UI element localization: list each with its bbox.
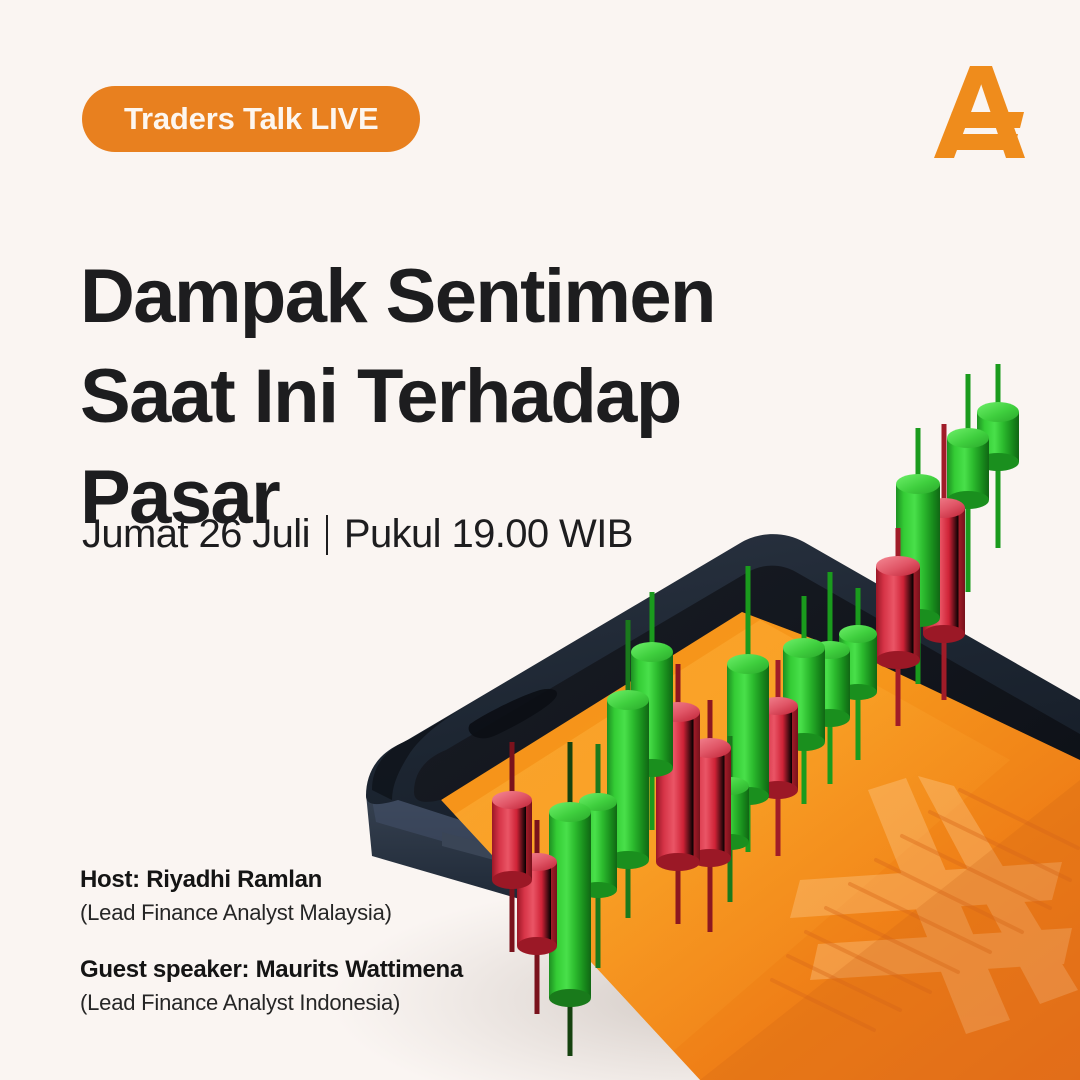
candle-up-13 <box>810 572 850 784</box>
candle-down-17 <box>923 424 965 700</box>
live-badge-label: Traders Talk LIVE <box>124 101 378 137</box>
phone-notch <box>469 689 557 739</box>
poster-canvas: Traders Talk LIVE Dampak Sentimen Saat I… <box>0 0 1080 1080</box>
phone-side <box>366 772 1080 1062</box>
candle-down-8 <box>689 700 731 932</box>
phone-screen <box>430 600 1080 1080</box>
headline-line-2: Saat Ini Terhadap <box>80 347 820 447</box>
credit-guest: Guest speaker: Maurits Wattimena (Lead F… <box>80 956 463 1016</box>
screen-speed-lines <box>772 790 1078 1030</box>
phone-bezel <box>414 566 1080 1002</box>
event-time: Pukul 19.00 WIB <box>344 512 633 557</box>
guest-name: Guest speaker: Maurits Wattimena <box>80 956 463 984</box>
phone-body <box>366 534 1080 1020</box>
candle-up-19 <box>977 364 1019 548</box>
screen-watermark-a-logo <box>790 776 1078 1034</box>
event-date: Jumat 26 Juli <box>82 512 310 557</box>
candle-down-2 <box>517 820 557 1014</box>
credit-host: Host: Riyadhi Ramlan (Lead Finance Analy… <box>80 866 463 926</box>
candle-up-18 <box>947 374 989 592</box>
candle-down-11 <box>758 660 798 856</box>
candle-up-4 <box>579 744 617 968</box>
candle-up-9 <box>711 736 749 902</box>
candle-up-6 <box>631 592 673 830</box>
host-name: Host: Riyadhi Ramlan <box>80 866 463 894</box>
candle-down-7 <box>656 664 700 924</box>
phone-corner-shade <box>372 704 470 800</box>
candle-up-10 <box>727 566 769 852</box>
candle-up-14 <box>839 588 877 760</box>
candle-down-15 <box>876 528 920 726</box>
host-role: (Lead Finance Analyst Malaysia) <box>80 900 463 926</box>
phone-side-button <box>442 832 494 860</box>
candle-up-3 <box>549 742 591 1056</box>
candle-up-5 <box>607 620 649 918</box>
brand-logo <box>928 58 1032 166</box>
speaker-credits: Host: Riyadhi Ramlan (Lead Finance Analy… <box>80 866 463 1016</box>
guest-role: (Lead Finance Analyst Indonesia) <box>80 990 463 1016</box>
phone-side-highlight <box>372 782 1080 1026</box>
page-title: Dampak Sentimen Saat Ini Terhadap Pasar <box>80 247 820 548</box>
datetime-separator <box>326 515 328 555</box>
candle-up-16 <box>896 428 940 684</box>
candle-up-12 <box>783 596 825 804</box>
headline-line-1: Dampak Sentimen <box>80 247 820 347</box>
event-datetime: Jumat 26 Juli Pukul 19.00 WIB <box>82 512 633 557</box>
phone-device <box>366 534 1080 1080</box>
live-badge[interactable]: Traders Talk LIVE <box>82 86 420 152</box>
candle-down-1 <box>492 742 532 952</box>
